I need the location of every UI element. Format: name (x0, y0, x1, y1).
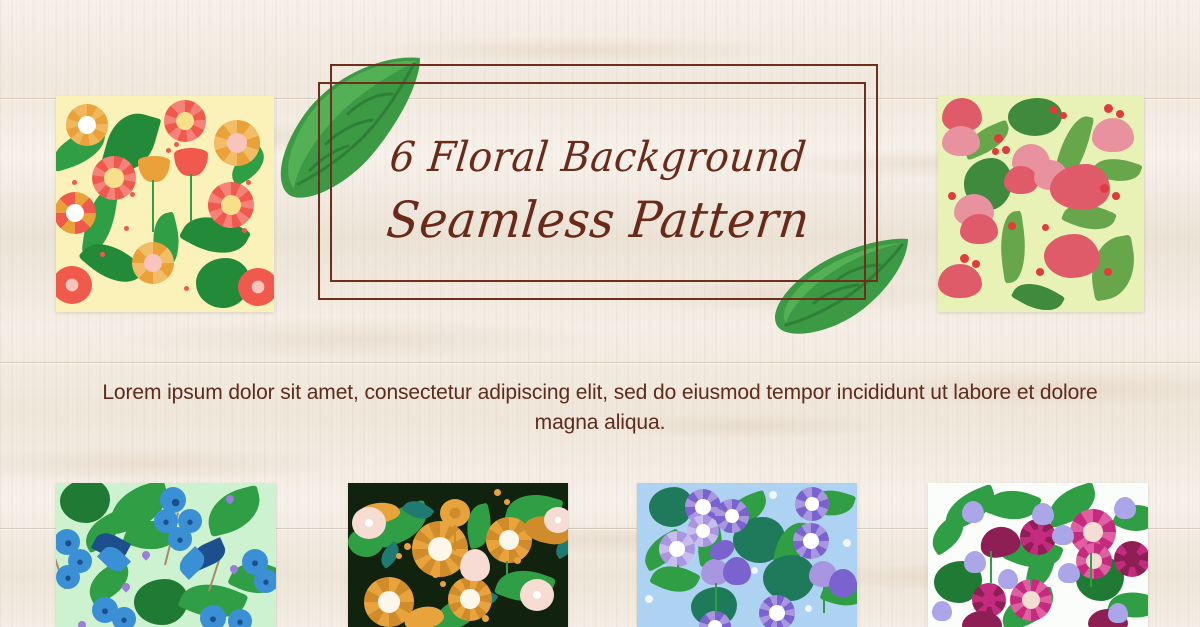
berry-dot (494, 489, 501, 496)
berry-dot (972, 260, 980, 268)
berry-dot (482, 615, 489, 622)
berry-shape (168, 527, 192, 551)
berry-dot (174, 142, 179, 147)
flower-shape (829, 569, 857, 597)
berry-dot (1042, 224, 1049, 231)
flower-shape (66, 104, 108, 146)
berry-dot (130, 192, 135, 197)
berry-shape (112, 607, 136, 627)
berry-dot (1002, 146, 1010, 154)
stem-shape (715, 583, 717, 613)
pattern-swatch-cream[interactable] (56, 96, 274, 312)
pattern-swatch-white-magenta[interactable] (928, 483, 1148, 627)
bud-shape (1032, 503, 1054, 525)
rose-shape (440, 499, 470, 527)
berry-dot (1050, 106, 1058, 114)
flower-shape (1092, 118, 1134, 152)
berry-dot (1112, 192, 1120, 200)
sparkle-accent (769, 491, 777, 499)
flower-shape (544, 507, 568, 533)
berry-dot (1104, 268, 1112, 276)
stem-shape (990, 551, 992, 583)
sparkle-accent (645, 595, 653, 603)
flower-shape (723, 557, 751, 585)
sparkle-accent (805, 605, 812, 612)
bud-shape (932, 601, 952, 621)
berry-dot (404, 543, 411, 550)
bud-shape (962, 501, 984, 523)
stem-shape (1090, 553, 1092, 587)
stem-shape (677, 565, 679, 591)
flower-shape (1076, 543, 1112, 579)
berry-dot (948, 192, 956, 200)
berry-dot (1104, 104, 1113, 113)
berry-dot (124, 226, 129, 231)
berry-dot (992, 148, 999, 155)
berry-dot (1036, 268, 1044, 276)
stem-shape (190, 174, 192, 222)
flower-shape (1004, 166, 1038, 194)
berry-dot (184, 286, 189, 291)
flower-shape (208, 182, 254, 228)
berry-dot (166, 148, 171, 153)
flower-shape (520, 579, 554, 611)
berry-dot (960, 254, 969, 263)
berry-shape (200, 605, 226, 627)
flower-shape (659, 531, 695, 567)
flower-cluster (238, 268, 274, 306)
floral-pattern-banner: 6 Floral Background Seamless Pattern Lor… (0, 0, 1200, 627)
sparkle-accent (843, 539, 851, 547)
berry-shape (56, 565, 80, 589)
bud-shape (1058, 563, 1080, 583)
frame-inner-border (330, 64, 878, 282)
berry-dot (504, 499, 510, 505)
flower-shape (715, 499, 749, 533)
wood-plank-divider (0, 362, 1200, 363)
pattern-swatch-dark-gold[interactable] (348, 483, 568, 627)
flower-shape (56, 192, 96, 234)
flower-shape (132, 242, 174, 284)
berry-dot (1008, 222, 1016, 230)
pattern-swatch-mint-blueberry[interactable] (56, 483, 276, 627)
berry-dot (514, 557, 521, 564)
berry-dot (994, 134, 1003, 143)
berry-dot (1116, 110, 1124, 118)
berry-dot (242, 228, 247, 233)
stem-shape (506, 561, 508, 583)
flower-shape (164, 100, 206, 142)
sparkle-accent (751, 567, 758, 574)
bud-shape (1108, 603, 1128, 623)
berry-dot (72, 180, 77, 185)
flower-shape (759, 595, 795, 627)
flower-shape (795, 487, 829, 521)
berry-dot (440, 581, 446, 587)
bud-shape (998, 569, 1018, 589)
subtitle-text: Lorem ipsum dolor sit amet, consectetur … (70, 378, 1130, 438)
berry-dot (396, 553, 402, 559)
flower-shape (1044, 234, 1100, 278)
bud-shape (1052, 525, 1074, 545)
stem-shape (1030, 557, 1032, 585)
berry-dot (100, 252, 105, 257)
berry-shape (228, 609, 252, 627)
title-frame: 6 Floral Background Seamless Pattern (318, 64, 880, 300)
berry-shape (254, 569, 276, 593)
bud-shape (964, 551, 986, 573)
berry-dot (432, 571, 439, 578)
berry-dot (1100, 184, 1109, 193)
flower-shape (1114, 541, 1148, 577)
flower-shape (214, 120, 260, 166)
stem-shape (152, 180, 154, 232)
berry-dot (1060, 112, 1067, 119)
flower-shape (960, 214, 998, 244)
flower-shape (460, 549, 490, 581)
flower-shape (938, 264, 982, 298)
stem-shape (823, 587, 825, 613)
pattern-swatch-green-rose[interactable] (938, 96, 1144, 312)
flower-shape (942, 126, 980, 156)
pattern-swatch-blue-violet[interactable] (637, 483, 857, 627)
berry-dot (246, 180, 251, 185)
bud-shape (1114, 497, 1136, 519)
stem-shape (454, 525, 456, 551)
flower-shape (352, 507, 386, 539)
flower-shape (793, 523, 829, 559)
